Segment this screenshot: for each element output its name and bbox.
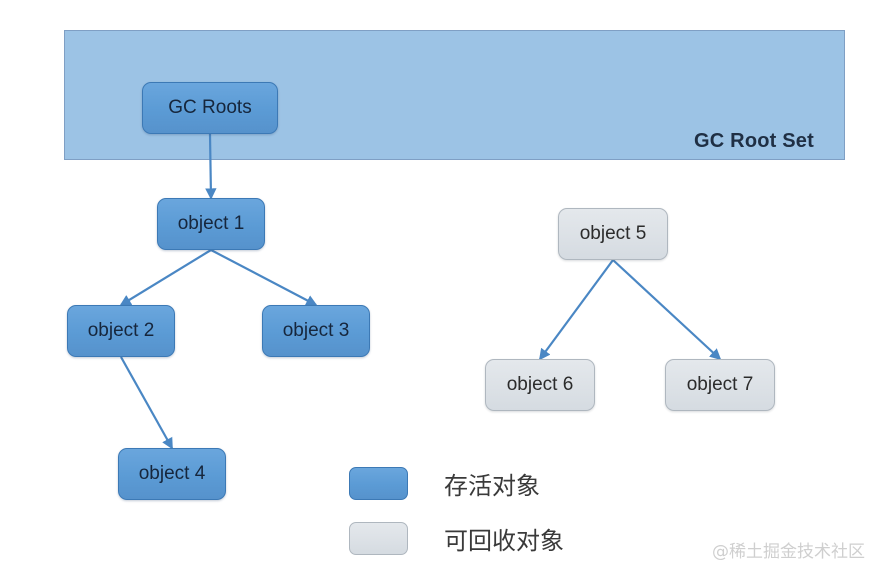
edge-object-5-to-object-6 (540, 260, 613, 359)
node-label: object 4 (139, 463, 206, 485)
node-label: object 2 (88, 320, 155, 342)
node-object-4[interactable]: object 4 (118, 448, 226, 500)
node-object-5[interactable]: object 5 (558, 208, 668, 260)
legend: 存活对象可回收对象 (349, 466, 564, 574)
node-gc-roots[interactable]: GC Roots (142, 82, 278, 134)
legend-item-dead: 可回收对象 (349, 521, 564, 555)
legend-label: 可回收对象 (444, 521, 564, 556)
node-object-1[interactable]: object 1 (157, 198, 265, 250)
node-label: object 6 (507, 374, 574, 396)
watermark: @稀土掘金技术社区 (712, 537, 865, 562)
edge-object-5-to-object-7 (613, 260, 720, 359)
node-label: object 5 (580, 223, 647, 245)
node-label: object 7 (687, 374, 754, 396)
diagram-canvas: GC Root Set GC Rootsobject 1object 2obje… (0, 0, 883, 574)
node-label: object 3 (283, 320, 350, 342)
legend-swatch-live (349, 467, 408, 500)
gc-root-set-label: GC Root Set (694, 130, 814, 153)
edge-object-1-to-object-2 (121, 250, 211, 305)
legend-item-live: 存活对象 (349, 466, 564, 500)
edge-object-1-to-object-3 (211, 250, 316, 305)
edge-object-2-to-object-4 (121, 357, 172, 448)
node-label: object 1 (178, 213, 245, 235)
node-object-2[interactable]: object 2 (67, 305, 175, 357)
node-label: GC Roots (168, 97, 251, 119)
legend-label: 存活对象 (444, 466, 540, 501)
legend-swatch-dead (349, 522, 408, 555)
node-object-3[interactable]: object 3 (262, 305, 370, 357)
node-object-6[interactable]: object 6 (485, 359, 595, 411)
node-object-7[interactable]: object 7 (665, 359, 775, 411)
